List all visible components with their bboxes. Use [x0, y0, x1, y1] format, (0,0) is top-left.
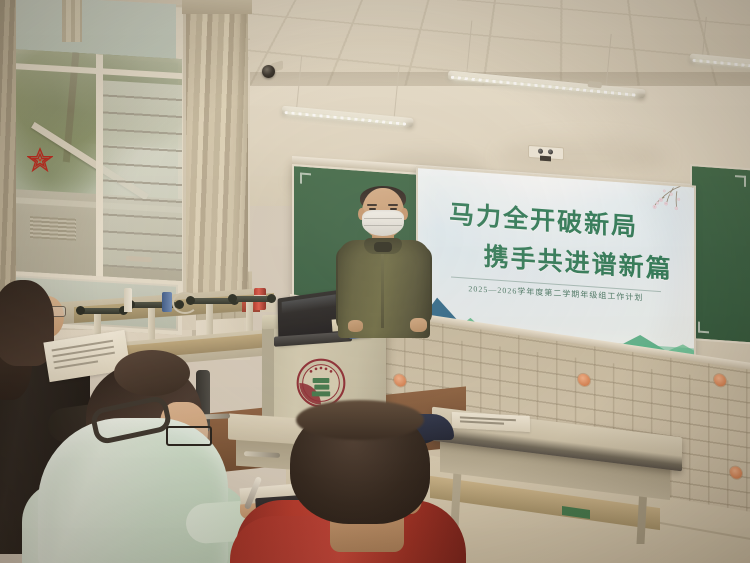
jacket-zipper	[381, 250, 384, 328]
curtain-rod-valance	[182, 0, 252, 14]
teacher	[336, 188, 432, 338]
student-red-jacket	[256, 404, 506, 563]
curtain	[62, 0, 82, 42]
teacher-hand	[348, 320, 363, 332]
spray-bottle	[124, 288, 132, 312]
inner-shirt	[374, 242, 392, 252]
board-camera-icon	[528, 145, 562, 163]
window-security-grille	[102, 80, 182, 271]
dome-camera-icon	[262, 62, 284, 78]
eyebrow	[388, 204, 398, 206]
window-mullion	[96, 54, 103, 282]
eyebrow	[367, 204, 377, 206]
green-chalkboard-panel	[690, 164, 750, 344]
slide-subtitle: 2025—2026学年度第二学期年级组工作计划	[451, 282, 661, 304]
eyeglasses	[166, 426, 212, 446]
teacher-hand	[410, 318, 427, 332]
face-mask	[362, 210, 404, 236]
blue-bottle	[162, 292, 172, 312]
ring-clamp	[172, 292, 198, 314]
red-papercut-flower-icon	[27, 147, 53, 173]
curtain	[186, 0, 248, 301]
curtain	[0, 0, 16, 320]
hair-bun	[114, 350, 190, 396]
classroom-photo: 马力全开破新局 携手共进谱新篇 2025—2026学年度第二学期年级组工作计划	[0, 0, 750, 563]
hair-highlight	[296, 400, 424, 440]
